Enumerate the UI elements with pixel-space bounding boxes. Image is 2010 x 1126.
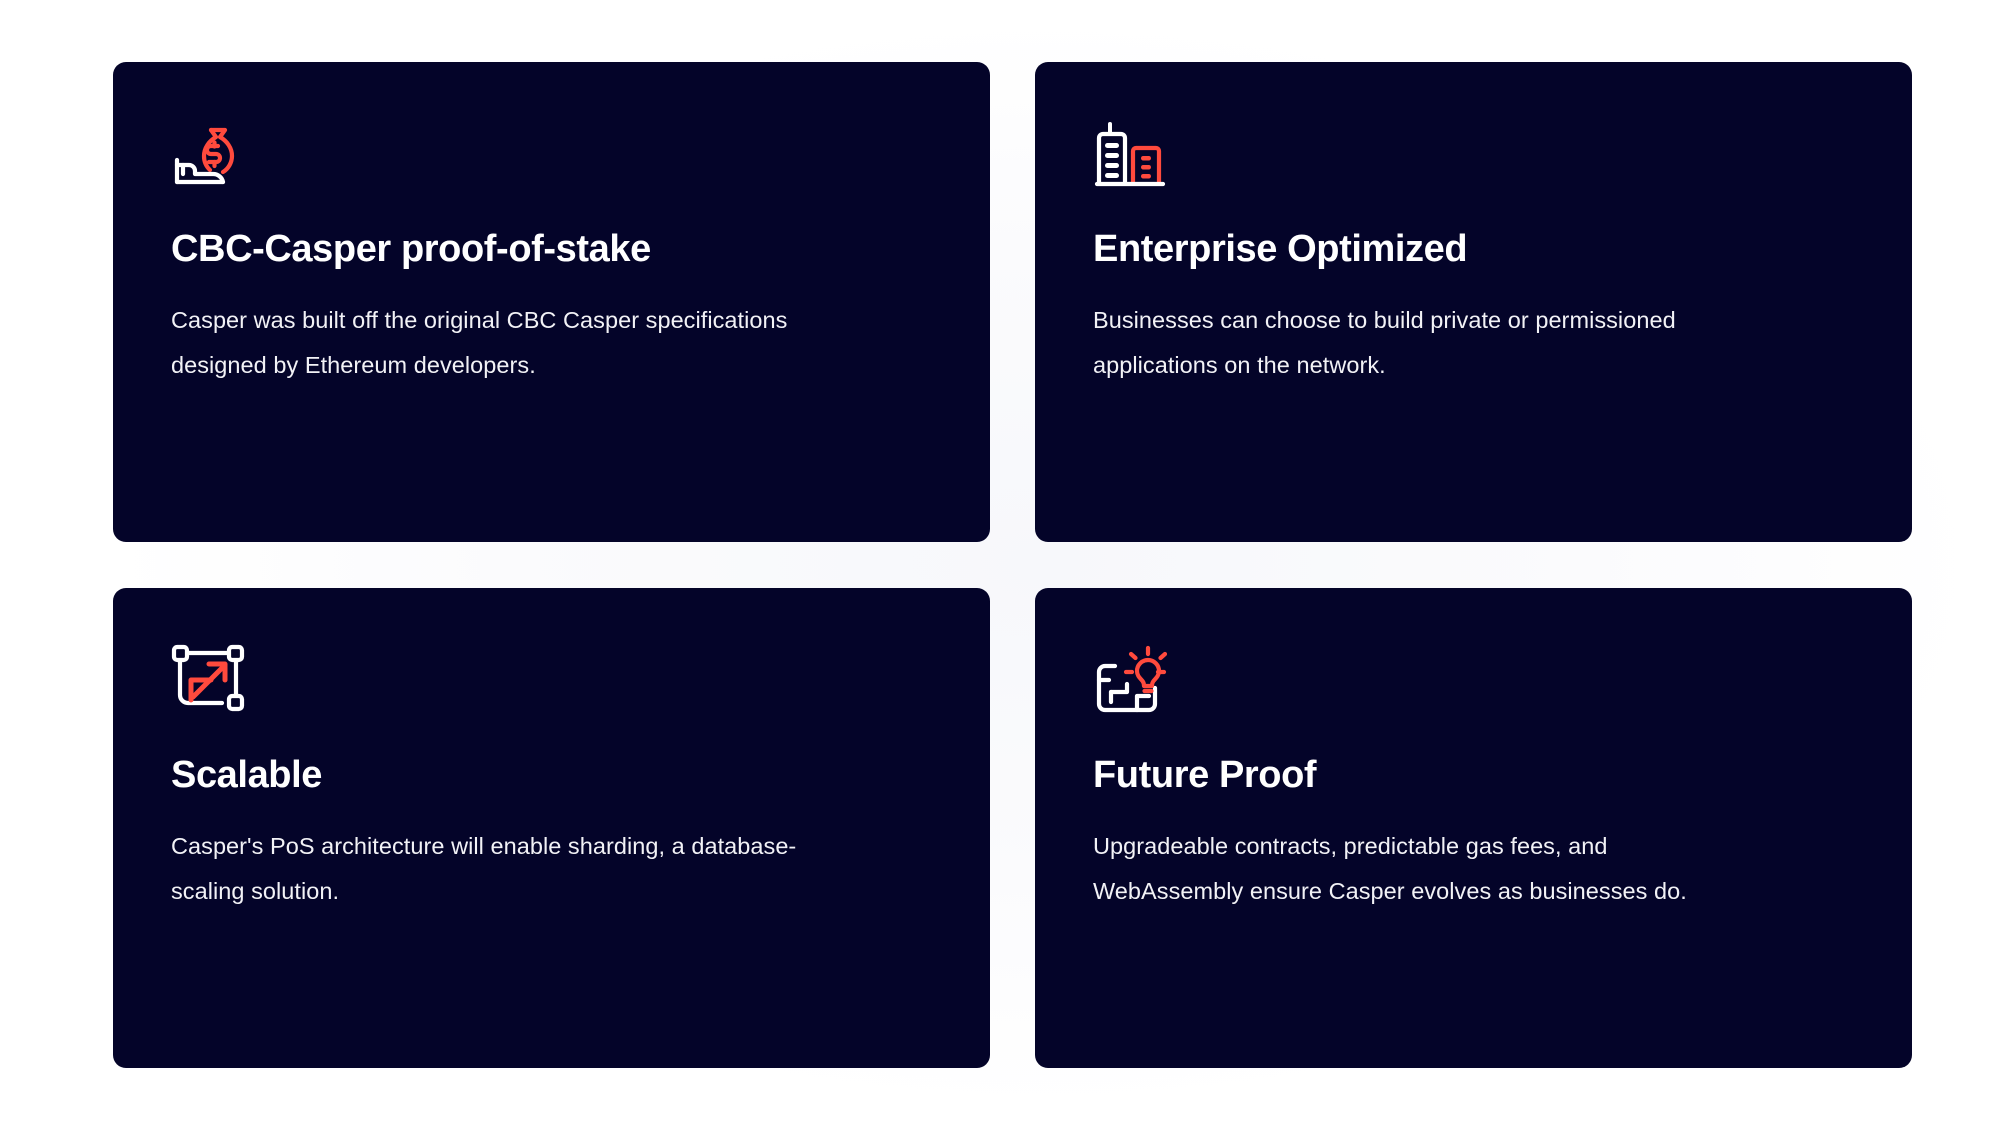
feature-card-cbc-casper-proof-of-stake[interactable]: CBC-Casper proof-of-stake Casper was bui… xyxy=(113,62,990,542)
card-body: Casper was built off the original CBC Ca… xyxy=(171,298,831,388)
money-bag-bed-icon xyxy=(171,118,245,192)
office-buildings-icon xyxy=(1093,118,1167,192)
card-title: CBC-Casper proof-of-stake xyxy=(171,228,932,272)
card-title: Enterprise Optimized xyxy=(1093,228,1854,272)
feature-card-enterprise-optimized[interactable]: Enterprise Optimized Businesses can choo… xyxy=(1035,62,1912,542)
card-title: Scalable xyxy=(171,754,932,798)
card-body: Upgradeable contracts, predictable gas f… xyxy=(1093,824,1753,914)
card-title: Future Proof xyxy=(1093,754,1854,798)
card-body: Casper's PoS architecture will enable sh… xyxy=(171,824,831,914)
circuit-lightbulb-icon xyxy=(1093,644,1167,718)
card-body: Businesses can choose to build private o… xyxy=(1093,298,1753,388)
feature-card-grid: CBC-Casper proof-of-stake Casper was bui… xyxy=(113,62,1900,1075)
scale-resize-arrow-icon xyxy=(171,644,245,718)
feature-card-future-proof[interactable]: Future Proof Upgradeable contracts, pred… xyxy=(1035,588,1912,1068)
feature-card-scalable[interactable]: Scalable Casper's PoS architecture will … xyxy=(113,588,990,1068)
